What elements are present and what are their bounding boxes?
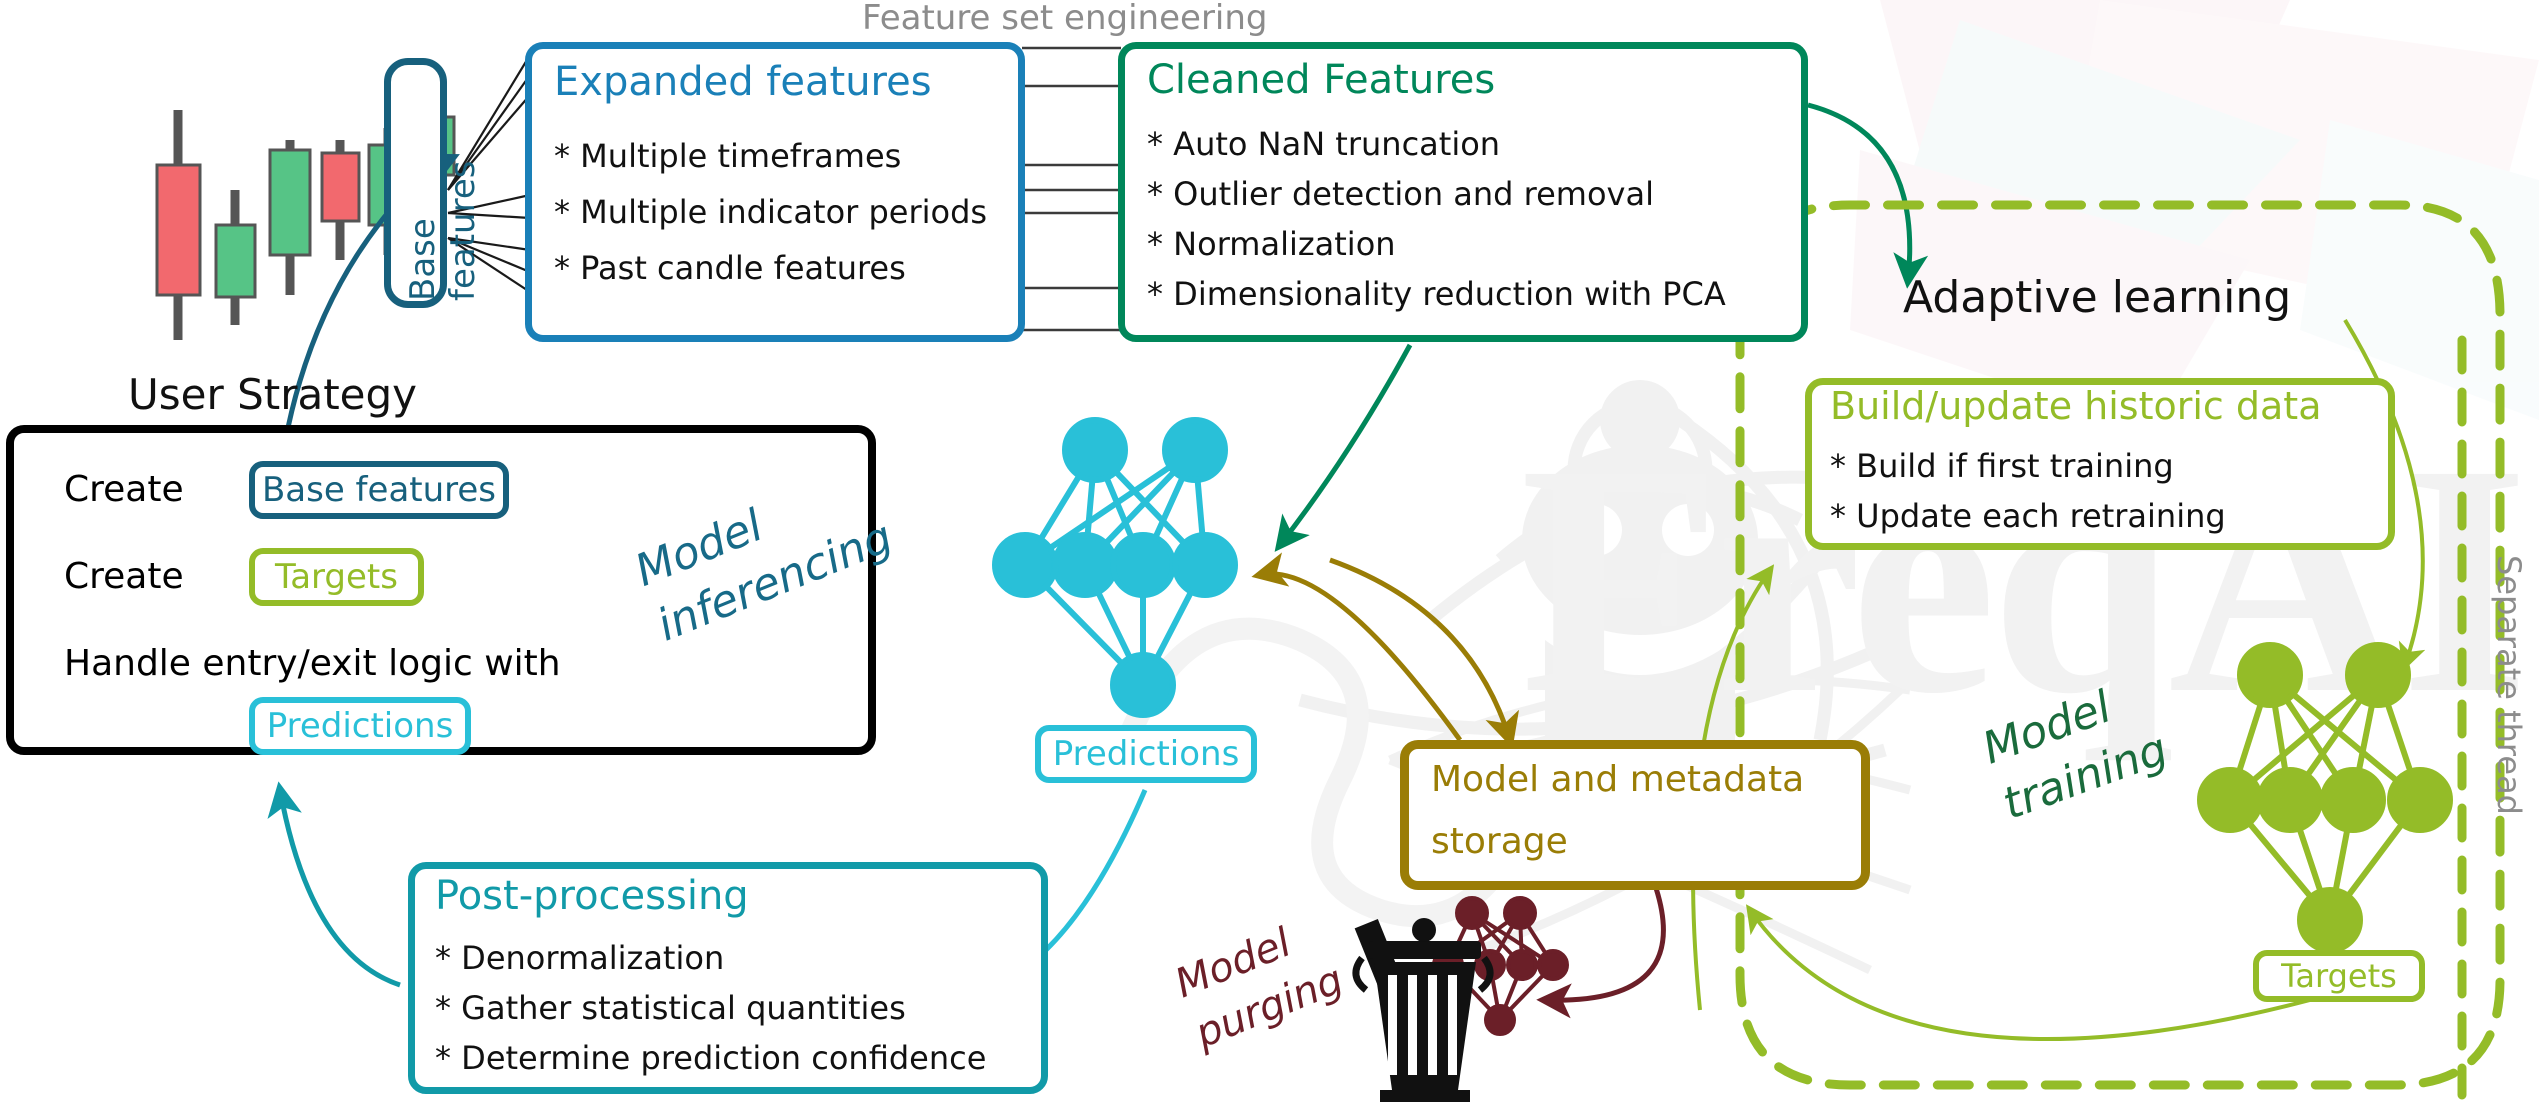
adaptive-learning-label: Adaptive learning [1903, 272, 2291, 323]
user-strategy-base-features-pill[interactable]: Base features [249, 461, 509, 519]
cleaned-features-box[interactable]: Cleaned Features * Auto NaN truncation *… [1118, 42, 1808, 342]
predictions-box[interactable]: Predictions [1035, 725, 1257, 783]
historic-data-bullet-0: * Build if first training [1830, 447, 2174, 485]
predictions-box-label: Predictions [1053, 734, 1240, 774]
separate-thread-label: Separate thread [2490, 555, 2528, 815]
historic-data-title: Build/update historic data [1830, 387, 2322, 427]
expanded-features-title: Expanded features [554, 61, 932, 103]
user-strategy-targets-pill[interactable]: Targets [249, 548, 424, 606]
targets-box-label: Targets [2281, 957, 2397, 995]
expanded-features-bullet-1: * Multiple indicator periods [554, 193, 987, 231]
diagram-canvas: FreqAI [0, 0, 2539, 1104]
cleaned-features-title: Cleaned Features [1147, 59, 1495, 101]
targets-pill-label: Targets [275, 557, 398, 597]
feature-set-engineering-label: Feature set engineering [862, 0, 1268, 38]
user-strategy-heading: User Strategy [128, 370, 417, 419]
predictions-pill-label: Predictions [267, 706, 454, 746]
user-strategy-line2-prefix: Create [64, 556, 184, 597]
user-strategy-predictions-pill[interactable]: Predictions [249, 697, 471, 755]
post-processing-bullet-0: * Denormalization [435, 939, 724, 977]
base-features-box[interactable]: Base features [384, 58, 447, 308]
storage-line2: storage [1431, 821, 1568, 862]
model-storage-box[interactable]: Model and metadata storage [1400, 740, 1870, 890]
post-processing-bullet-2: * Determine prediction confidence [435, 1039, 986, 1077]
expanded-features-bullet-0: * Multiple timeframes [554, 137, 901, 175]
historic-data-box[interactable]: Build/update historic data * Build if fi… [1805, 378, 2395, 550]
cleaned-features-bullet-3: * Dimensionality reduction with PCA [1147, 275, 1726, 313]
post-processing-box[interactable]: Post-processing * Denormalization * Gath… [408, 862, 1048, 1094]
historic-data-bullet-1: * Update each retraining [1830, 497, 2226, 535]
cleaned-features-bullet-1: * Outlier detection and removal [1147, 175, 1654, 213]
expanded-features-box[interactable]: Expanded features * Multiple timeframes … [525, 42, 1025, 342]
base-features-pill-label: Base features [262, 470, 496, 510]
cleaned-features-bullet-2: * Normalization [1147, 225, 1396, 263]
cleaned-features-bullet-0: * Auto NaN truncation [1147, 125, 1500, 163]
user-strategy-line1-prefix: Create [64, 469, 184, 510]
post-processing-bullet-1: * Gather statistical quantities [435, 989, 906, 1027]
storage-line1: Model and metadata [1431, 759, 1804, 800]
post-processing-title: Post-processing [435, 875, 749, 917]
targets-box[interactable]: Targets [2253, 950, 2425, 1002]
expanded-features-bullet-2: * Past candle features [554, 249, 906, 287]
user-strategy-line3-text: Handle entry/exit logic with [64, 643, 561, 684]
base-features-label: Base features [403, 83, 483, 301]
